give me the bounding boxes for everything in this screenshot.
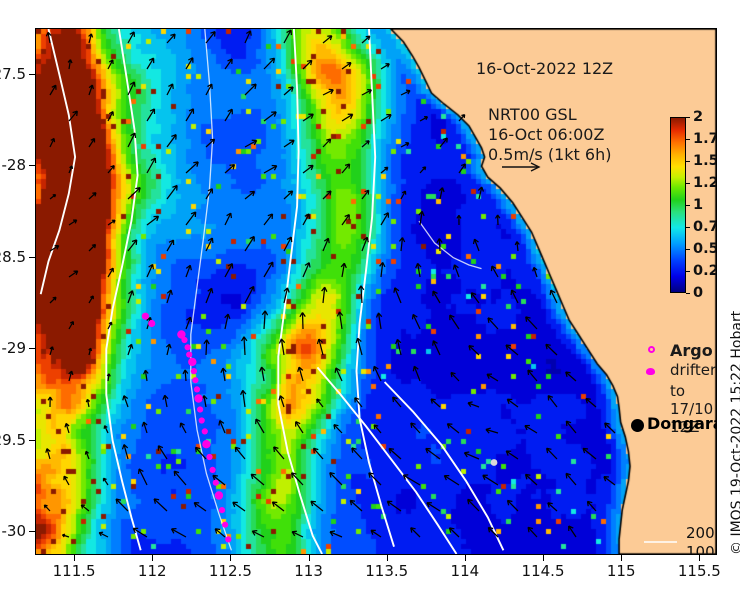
current-vector-arrow (362, 141, 369, 147)
current-vector-arrow (147, 58, 154, 69)
colorbar-tick (686, 249, 690, 250)
current-vector-arrow (284, 140, 294, 147)
current-vector-arrow (296, 422, 303, 433)
current-vector-arrow (548, 396, 557, 407)
colorbar-tick (686, 271, 690, 272)
current-vector-arrow (566, 473, 576, 485)
x-axis-tick (387, 555, 388, 561)
current-vector-arrow (69, 371, 73, 381)
colorbar-tick-label: 1 (693, 197, 703, 213)
legend-label-drifters: drifters@6h (670, 361, 717, 379)
current-vector-arrow (147, 264, 153, 277)
colorbar-gradient (670, 117, 686, 293)
current-vector-arrow (104, 478, 109, 485)
current-vector-arrow (233, 502, 245, 511)
drifter-position-marker (194, 386, 200, 392)
drifter-position-marker (199, 417, 205, 423)
drifter-position-marker (210, 467, 216, 473)
current-vector-arrow (225, 109, 232, 121)
current-vector-arrow (225, 314, 230, 329)
current-vector-arrow (342, 114, 353, 121)
drifter-position-marker (206, 454, 212, 460)
current-vector-arrow (235, 447, 245, 459)
model-time: 16-Oct 06:00Z (488, 125, 611, 145)
current-vector-arrow (206, 84, 212, 95)
model-info-block: NRT00 GSL 16-Oct 06:00Z 0.5m/s (1kt 6h) (488, 105, 611, 165)
current-vector-arrow (569, 526, 576, 537)
current-vector-arrow (420, 167, 426, 173)
current-vector-arrow (85, 451, 89, 459)
x-axis-tick-label: 114.5 (522, 562, 565, 580)
drifter-position-marker (188, 358, 196, 366)
current-vector-arrow (144, 370, 149, 381)
current-vector-arrow (89, 139, 95, 148)
current-vector-arrow (334, 425, 342, 433)
current-vector-arrow (399, 238, 404, 252)
current-vector-arrow (194, 503, 206, 511)
current-vector-arrow (515, 242, 519, 252)
current-vector-arrow (381, 167, 388, 173)
current-vector-arrow (284, 191, 293, 199)
current-vector-arrow (221, 368, 226, 381)
current-vector-arrow (396, 339, 401, 355)
current-vector-arrow (89, 85, 93, 95)
current-vector-arrow (416, 263, 421, 277)
current-vector-arrow (256, 419, 264, 433)
current-vector-arrow (69, 271, 78, 277)
current-vector-arrow (377, 313, 382, 329)
current-vector-arrow (264, 214, 273, 225)
current-vector-arrow (128, 291, 134, 303)
current-vector-arrow (167, 34, 175, 43)
current-vector-arrow (323, 89, 333, 95)
current-vector-arrow (450, 315, 459, 329)
current-vector-arrow (128, 240, 137, 251)
current-vector-arrow (64, 476, 69, 485)
current-vector-arrow (279, 396, 284, 407)
current-vector-arrow (488, 318, 498, 329)
current-vector-arrow (241, 390, 246, 407)
current-vector-arrow (401, 90, 410, 95)
current-vector-arrow (528, 527, 537, 537)
current-vector-arrow (99, 532, 108, 537)
y-axis-tick (29, 74, 35, 75)
colorbar: 21.751.51.2510.750.50.250 (670, 117, 686, 293)
current-vector-arrow (142, 422, 147, 433)
current-vector-arrow (374, 425, 381, 433)
drifter-position-marker (215, 491, 223, 499)
current-vector-arrow (362, 237, 368, 251)
current-vector-arrow (225, 264, 233, 277)
current-vector-arrow (352, 448, 362, 459)
drifter-position-marker (192, 377, 198, 383)
current-vector-arrow (342, 215, 349, 225)
colorbar-tick (686, 205, 690, 206)
current-vector-arrow (65, 423, 69, 433)
current-vector-arrow (272, 502, 284, 511)
current-vector-arrow (604, 477, 615, 485)
current-vector-arrow (303, 263, 310, 277)
current-vector-arrow (264, 262, 273, 277)
current-vector-arrow (139, 469, 148, 485)
argo-float-marker (491, 459, 498, 466)
legend-label-argo: Argo (670, 341, 713, 360)
colorbar-tick (686, 117, 690, 118)
current-vector-arrow (342, 63, 351, 69)
current-vector-arrow (317, 339, 323, 355)
current-vector-arrow (464, 452, 479, 459)
current-vector-arrow (245, 286, 254, 303)
current-vector-arrow (478, 187, 483, 199)
current-vector-arrow (167, 84, 173, 95)
current-vector-arrow (447, 424, 459, 433)
current-vector-arrow (371, 530, 381, 537)
current-vector-arrow (548, 503, 557, 511)
current-vector-arrow (206, 139, 215, 147)
colorbar-tick (686, 293, 690, 294)
current-vector-arrow (50, 85, 56, 95)
current-vector-arrow (186, 265, 191, 277)
current-vector-arrow (511, 290, 518, 303)
current-vector-arrow (154, 499, 167, 511)
current-vector-arrow (322, 287, 327, 303)
y-axis-tick (29, 165, 35, 166)
current-vector-arrow (262, 311, 267, 329)
current-vector-arrow (586, 399, 596, 408)
bathymetry-contour (419, 221, 482, 269)
current-vector-arrow (420, 117, 428, 121)
current-vector-arrow (69, 220, 77, 225)
date-stamp: 16-Oct-2022 12Z (476, 59, 613, 78)
current-vector-arrow (451, 373, 459, 382)
current-vector-arrow (303, 214, 309, 225)
depth-contour-key: 200m 1000m (686, 524, 717, 555)
current-vector-arrow (50, 195, 56, 199)
current-vector-arrow (411, 423, 420, 433)
x-axis-tick (230, 555, 231, 561)
drifter-position-marker (202, 440, 210, 448)
depth-label-1000m: 1000m (686, 543, 717, 555)
y-axis-tick (29, 257, 35, 258)
current-vector-arrow (317, 399, 323, 407)
current-vector-arrow (123, 445, 129, 460)
current-vector-arrow (245, 31, 251, 43)
current-vector-arrow (426, 449, 440, 460)
drifter-position-marker (186, 352, 192, 358)
current-vector-arrow (163, 395, 168, 407)
colorbar-tick-label: 0.75 (693, 219, 717, 235)
current-vector-arrow (323, 191, 331, 199)
current-vector-arrow (525, 426, 537, 434)
current-vector-arrow (350, 500, 362, 511)
current-vector-arrow (274, 447, 284, 459)
colorbar-tick-label: 0.25 (693, 263, 717, 279)
current-vector-arrow (439, 188, 444, 199)
current-vector-arrow (215, 529, 225, 537)
current-vector-arrow (335, 368, 342, 381)
current-vector-arrow (546, 344, 557, 355)
current-vector-arrow (550, 290, 557, 303)
current-vector-arrow (300, 313, 305, 330)
colorbar-tick-label: 0 (693, 285, 703, 301)
current-vector-arrow (298, 367, 303, 381)
current-vector-arrow (496, 215, 500, 225)
current-vector-arrow (474, 239, 480, 251)
imos-credit: © IMOS 19-Oct-2022 15:22 Hobart (729, 311, 740, 555)
current-vector-arrow (566, 372, 576, 381)
colorbar-tick (686, 227, 690, 228)
colorbar-tick-label: 1.75 (693, 131, 717, 147)
current-vector-arrow (186, 109, 194, 121)
current-vector-arrow (108, 166, 114, 173)
drifter-position-marker (219, 507, 225, 513)
current-vector-arrow (158, 446, 167, 459)
drifter-position-marker (197, 406, 203, 412)
colorbar-tick-label: 1.5 (693, 153, 717, 169)
bathymetry-contour (41, 29, 75, 294)
current-vector-arrow (323, 139, 331, 147)
current-vector-arrow (492, 266, 499, 277)
current-vector-arrow (89, 348, 92, 355)
current-vector-arrow (50, 347, 54, 355)
current-vector-arrow (487, 374, 498, 381)
current-vector-arrow (431, 399, 440, 407)
current-vector-arrow (108, 268, 113, 277)
current-vector-arrow (245, 191, 255, 199)
current-vector-arrow (128, 344, 133, 355)
current-vector-arrow (459, 115, 465, 121)
depth-label-200m: 200m (686, 524, 717, 543)
colorbar-tick (686, 183, 690, 184)
current-vector-arrow (323, 36, 332, 43)
current-vector-arrow (330, 531, 342, 537)
x-axis-tick-label: 115 (607, 562, 636, 580)
current-vector-arrow (48, 397, 52, 407)
drifter-position-marker (202, 428, 208, 434)
current-vector-arrow (264, 166, 277, 174)
current-vector-arrow (206, 238, 213, 251)
drifter-position-marker (181, 337, 187, 343)
current-vector-arrow (108, 60, 113, 69)
bathymetry-contour (106, 29, 140, 550)
current-vector-arrow (381, 115, 391, 121)
current-vector-arrow (245, 140, 257, 147)
current-vector-arrow (526, 317, 537, 329)
current-vector-arrow (314, 448, 323, 459)
current-vector-arrow (252, 531, 264, 537)
current-vector-arrow (202, 396, 207, 408)
current-vector-arrow (183, 370, 188, 381)
current-vector-arrow (566, 421, 576, 433)
current-vector-arrow (86, 399, 89, 407)
x-axis-tick (699, 555, 700, 561)
current-vector-arrow (486, 428, 498, 433)
drifter-position-marker (142, 313, 149, 320)
current-vector-arrow (206, 32, 215, 43)
current-vector-arrow (69, 322, 73, 330)
x-axis-tick-label: 112 (138, 562, 167, 580)
x-axis-tick-label: 113.5 (365, 562, 408, 580)
current-vector-arrow (303, 165, 313, 173)
current-vector-arrow (394, 288, 401, 303)
sst-age-map-figure: 16-Oct-2022 12Z NRT00 GSL 16-Oct 06:00Z … (0, 0, 740, 592)
current-vector-arrow (206, 288, 213, 303)
current-vector-arrow (547, 448, 557, 459)
dongara-location-dot (631, 419, 644, 432)
y-axis-tick-label: -30 (2, 522, 27, 540)
dongara-label: Dongara (647, 414, 717, 433)
current-vector-arrow (457, 215, 461, 225)
current-vector-arrow (81, 505, 89, 511)
current-vector-arrow (459, 164, 465, 173)
current-vector-arrow (264, 112, 276, 121)
current-vector-arrow (506, 345, 518, 355)
current-vector-arrow (167, 240, 174, 251)
current-vector-arrow (108, 112, 113, 121)
y-axis-tick-label: -28.5 (0, 248, 26, 266)
current-vector-arrow (46, 449, 51, 459)
current-vector-arrow (167, 135, 176, 147)
drifter-position-marker (194, 394, 202, 402)
colorbar-tick-label: 2 (693, 109, 703, 125)
current-vector-arrow (444, 476, 459, 485)
current-vector-arrow (605, 423, 615, 433)
current-vector-arrow (186, 162, 198, 173)
current-vector-arrow (69, 111, 77, 121)
colorbar-tick (686, 139, 690, 140)
y-axis-tick (29, 440, 35, 441)
current-vector-arrow (471, 293, 479, 303)
y-axis-tick-label: -29 (2, 339, 27, 357)
map-overlays (36, 29, 716, 554)
current-vector-arrow (468, 402, 479, 407)
x-axis-tick (309, 555, 310, 561)
current-vector-arrow (242, 337, 247, 355)
current-vector-arrow (186, 212, 196, 225)
current-vector-arrow (62, 534, 69, 537)
current-vector-arrow (264, 58, 275, 69)
current-vector-arrow (89, 193, 96, 199)
y-axis-tick-label: -27.5 (0, 65, 26, 83)
current-vector-arrow (133, 528, 147, 537)
current-vector-arrow (526, 474, 538, 485)
current-vector-arrow (506, 451, 518, 459)
current-vector-arrow (588, 501, 597, 511)
current-vector-arrow (292, 531, 303, 537)
y-axis-tick-label: -29.5 (0, 431, 26, 449)
current-vector-arrow (104, 426, 108, 433)
colorbar-tick-label: 0.5 (693, 241, 717, 257)
current-vector-arrow (284, 237, 292, 251)
current-vector-arrow (380, 262, 385, 277)
current-vector-arrow (330, 473, 342, 485)
bathymetry-contour (385, 382, 504, 550)
current-vector-arrow (225, 213, 231, 225)
current-vector-arrow (186, 58, 193, 69)
current-vector-arrow (123, 396, 128, 407)
current-vector-arrow (401, 191, 406, 199)
x-axis-tick (152, 555, 153, 561)
current-vector-arrow (167, 290, 172, 303)
drifter-marker-icon (646, 368, 655, 375)
current-vector-arrow (411, 528, 420, 537)
current-vector-arrow (260, 367, 265, 381)
current-vector-arrow (174, 471, 186, 485)
current-vector-arrow (204, 340, 209, 355)
current-vector-arrow (362, 90, 371, 95)
drifter-position-marker (222, 522, 228, 528)
colorbar-tick (686, 161, 690, 162)
current-vector-arrow (147, 216, 159, 225)
current-vector-arrow (206, 189, 212, 199)
y-axis-tick (29, 348, 35, 349)
x-axis-tick (543, 555, 544, 561)
current-vector-arrow (337, 312, 342, 329)
current-vector-arrow (440, 138, 447, 147)
current-vector-arrow (50, 138, 55, 147)
current-vector-arrow (147, 158, 156, 173)
current-vector-arrow (387, 501, 401, 511)
drifter-position-marker (185, 344, 191, 350)
current-vector-arrow (311, 501, 323, 511)
current-vector-arrow (413, 366, 420, 381)
current-vector-arrow (508, 500, 519, 511)
current-vector-arrow (219, 421, 225, 434)
current-vector-arrow (362, 190, 369, 199)
current-vector-arrow (50, 297, 56, 303)
current-vector-arrow (225, 165, 235, 173)
current-vector-arrow (450, 528, 460, 537)
x-axis-tick (621, 555, 622, 561)
current-vector-arrow (225, 59, 232, 69)
current-vector-arrow (413, 314, 421, 329)
argo-marker-icon (648, 346, 655, 353)
current-vector-arrow (507, 399, 518, 407)
current-vector-arrow (583, 448, 596, 459)
current-vector-arrow (166, 344, 171, 355)
current-vector-arrow (342, 164, 350, 173)
current-vector-arrow (107, 374, 110, 381)
current-vector-arrow (172, 529, 187, 537)
right-arrow-icon (500, 160, 546, 174)
current-vector-arrow (89, 296, 93, 303)
current-vector-arrow (433, 341, 440, 355)
current-vector-arrow (341, 263, 346, 277)
drifter-position-marker (225, 536, 231, 542)
current-vector-arrow (433, 291, 440, 303)
map-plot-area[interactable]: 16-Oct-2022 12Z NRT00 GSL 16-Oct 06:00Z … (35, 28, 717, 555)
y-axis-tick-label: -28 (2, 156, 27, 174)
drifter-track (142, 313, 232, 543)
current-vector-arrow (381, 64, 389, 69)
current-vector-arrow (44, 505, 50, 511)
current-vector-arrow (323, 238, 329, 251)
current-vector-arrow (453, 265, 459, 277)
x-axis-tick-label: 113 (294, 562, 323, 580)
current-vector-arrow (483, 475, 498, 485)
current-vector-arrow (245, 84, 256, 95)
drifter-position-marker (148, 320, 155, 327)
current-vector-arrow (180, 423, 186, 433)
x-axis-tick-label: 115.5 (678, 562, 721, 580)
current-vector-arrow (108, 220, 115, 225)
y-axis-tick (29, 531, 35, 532)
current-vector-arrow (469, 346, 479, 355)
current-vector-arrow (381, 213, 388, 225)
current-vector-arrow (89, 245, 96, 252)
current-vector-arrow (89, 34, 93, 43)
current-vector-arrow (147, 109, 155, 121)
